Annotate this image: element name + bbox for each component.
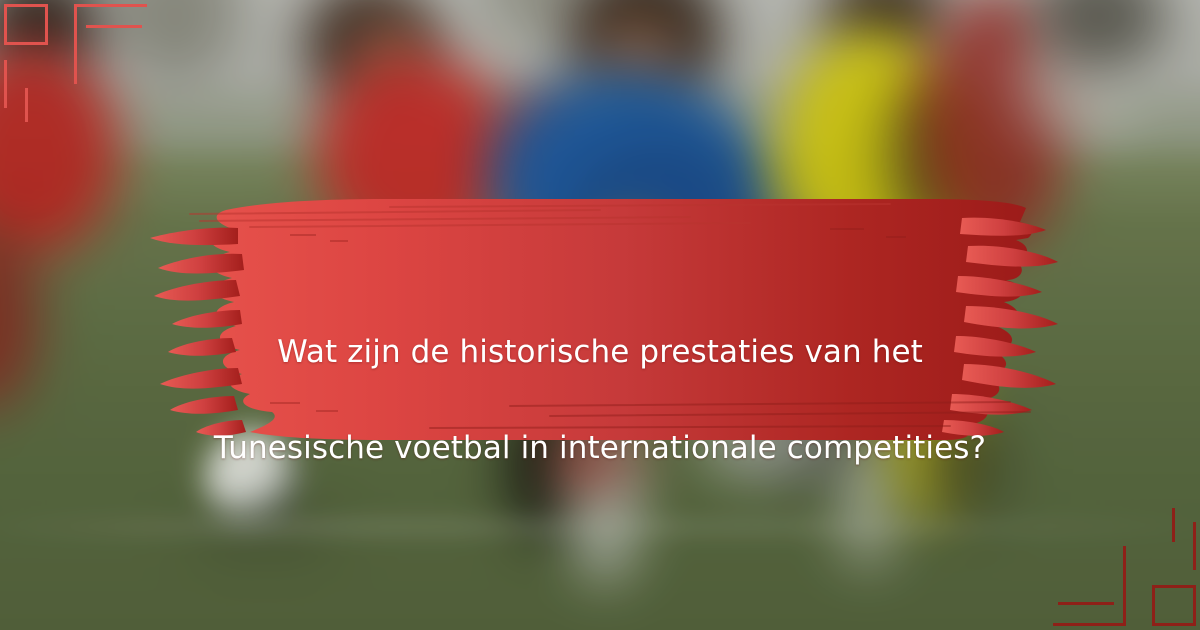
corner-bracket-top-left bbox=[0, 0, 170, 110]
headline-line-2: Tunesische voetbal in internationale com… bbox=[150, 424, 1050, 472]
corner-bracket-bottom-right bbox=[1030, 520, 1200, 630]
share-card: Wat zijn de historische prestaties van h… bbox=[0, 0, 1200, 630]
headline-line-1: Wat zijn de historische prestaties van h… bbox=[150, 328, 1050, 376]
headline: Wat zijn de historische prestaties van h… bbox=[150, 280, 1050, 520]
